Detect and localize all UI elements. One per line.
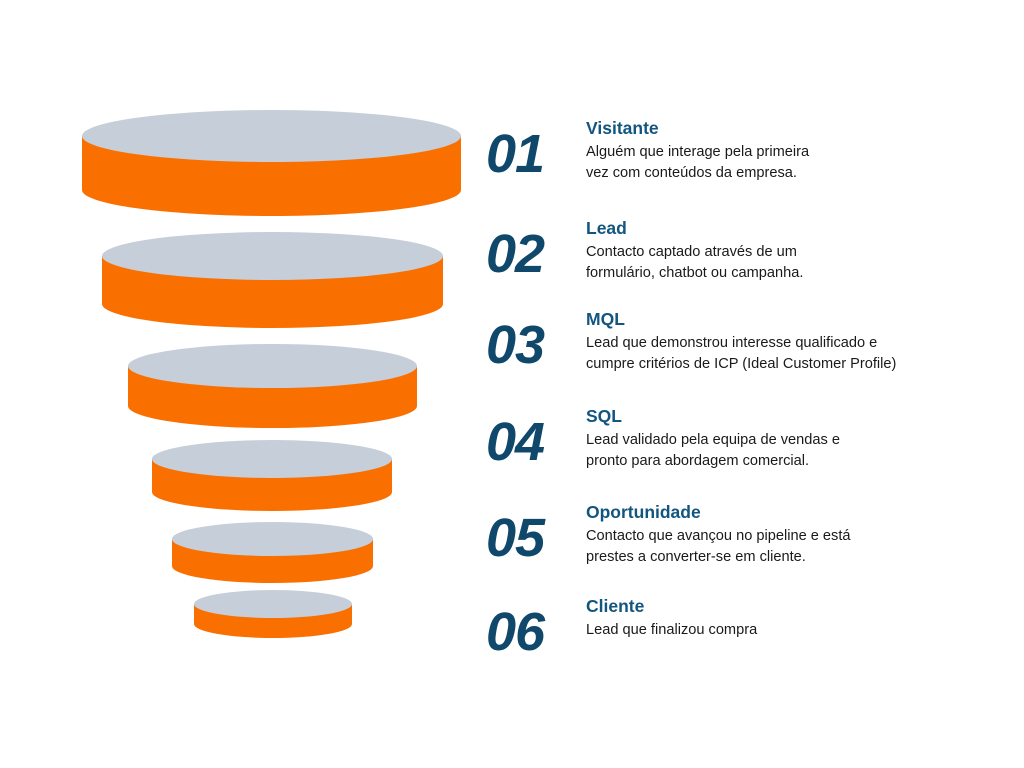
funnel-stage-5-top <box>172 522 373 556</box>
step-number-02: 02 <box>486 218 586 281</box>
step-title-cliente: Cliente <box>586 596 956 618</box>
step-text-block-5: Oportunidade Contacto que avançou no pip… <box>586 502 956 568</box>
funnel-diagram <box>0 0 480 768</box>
funnel-step-6: 06 Cliente Lead que finalizou compra <box>486 596 956 659</box>
step-number-04: 04 <box>486 406 586 469</box>
step-number-03: 03 <box>486 309 586 372</box>
step-title-mql: MQL <box>586 309 956 331</box>
funnel-step-3: 03 MQL Lead que demonstrou interesse qua… <box>486 309 956 375</box>
funnel-stage-2-top <box>102 232 443 280</box>
funnel-step-4: 04 SQL Lead validado pela equipa de vend… <box>486 406 956 472</box>
funnel-stage-1-top <box>82 110 461 162</box>
funnel-step-2: 02 Lead Contacto captado através de um f… <box>486 218 956 284</box>
step-text-block-1: Visitante Alguém que interage pela prime… <box>586 118 956 184</box>
step-title-visitante: Visitante <box>586 118 956 140</box>
step-description-lead: Contacto captado através de um formulári… <box>586 242 956 284</box>
funnel-stage-5 <box>172 522 373 583</box>
step-number-01: 01 <box>486 118 586 181</box>
step-description-sql: Lead validado pela equipa de vendas e pr… <box>586 430 956 472</box>
step-title-oportunidade: Oportunidade <box>586 502 956 524</box>
step-title-lead: Lead <box>586 218 956 240</box>
step-text-block-3: MQL Lead que demonstrou interesse qualif… <box>586 309 956 375</box>
funnel-stage-3-top <box>128 344 417 388</box>
step-description-cliente: Lead que finalizou compra <box>586 620 956 641</box>
step-text-block-4: SQL Lead validado pela equipa de vendas … <box>586 406 956 472</box>
funnel-stage-4 <box>152 440 392 511</box>
step-text-block-2: Lead Contacto captado através de um form… <box>586 218 956 284</box>
funnel-stage-6-top <box>194 590 352 618</box>
step-number-06: 06 <box>486 596 586 659</box>
step-description-visitante: Alguém que interage pela primeira vez co… <box>586 142 956 184</box>
funnel-stage-6 <box>194 590 352 638</box>
step-text-block-6: Cliente Lead que finalizou compra <box>586 596 956 641</box>
funnel-step-5: 05 Oportunidade Contacto que avançou no … <box>486 502 956 568</box>
funnel-step-1: 01 Visitante Alguém que interage pela pr… <box>486 118 956 184</box>
step-number-05: 05 <box>486 502 586 565</box>
funnel-stage-4-top <box>152 440 392 478</box>
funnel-stage-3 <box>128 344 417 428</box>
funnel-stage-2 <box>102 232 443 328</box>
step-description-mql: Lead que demonstrou interesse qualificad… <box>586 333 956 375</box>
step-title-sql: SQL <box>586 406 956 428</box>
funnel-stage-1 <box>82 110 461 216</box>
step-description-oportunidade: Contacto que avançou no pipeline e está … <box>586 526 956 568</box>
